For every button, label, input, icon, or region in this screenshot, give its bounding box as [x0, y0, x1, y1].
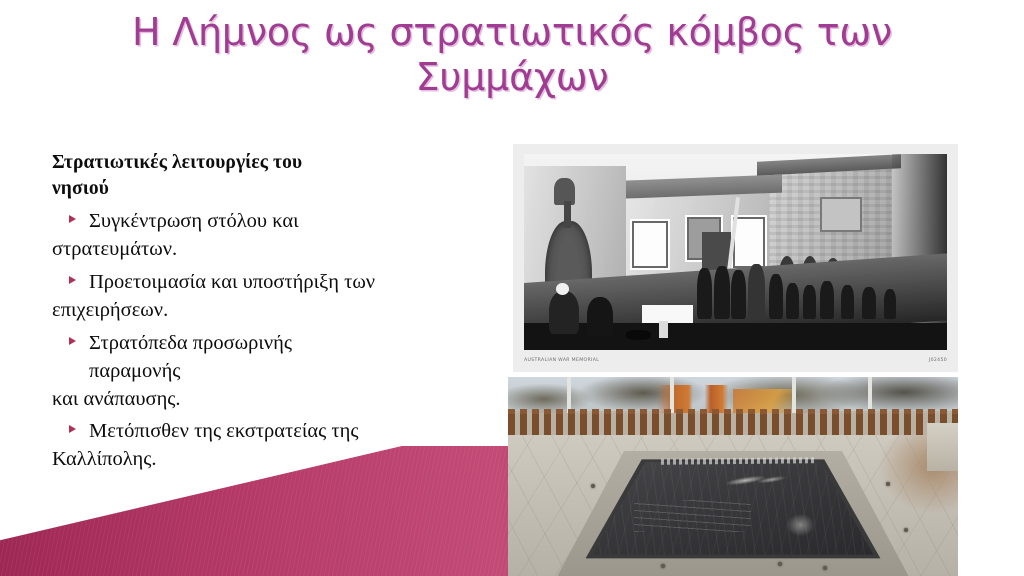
- photo-soldier-figure: [697, 268, 711, 319]
- list-item: Συγκέντρωση στόλου και: [52, 208, 482, 236]
- photo-figure: [820, 281, 834, 318]
- list-item-text: Προετοιμασία και υποστήριξη των: [52, 269, 482, 297]
- historic-street-photo: AUSTRALIAN WAR MEMORIAL J02450: [513, 144, 958, 372]
- plaque-relief-emblem: [769, 512, 832, 538]
- photo-headscarf: [556, 283, 569, 295]
- photo-balcony: [820, 197, 862, 232]
- photo-soldier-figure: [714, 266, 729, 319]
- list-item-text: Στρατόπεδα προσωρινής: [52, 330, 482, 358]
- photo-figure: [884, 289, 897, 318]
- photo-dog: [626, 330, 651, 340]
- list-item: Προετοιμασία και υποστήριξη των: [52, 269, 482, 297]
- list-item-runover: στρατευμάτων.: [52, 236, 482, 264]
- photo-credit-source: AUSTRALIAN WAR MEMORIAL: [524, 358, 599, 363]
- photo-figure: [862, 287, 876, 318]
- memorial-plaque-photo: [508, 377, 958, 576]
- historic-photo-image: [524, 154, 947, 350]
- plaque-relief-texture: [634, 500, 751, 532]
- body-heading: Στρατιωτικές λειτουργίες του νησιού: [52, 150, 482, 202]
- list-item-runover: Καλλίπολης.: [52, 446, 482, 474]
- photo-seated-figure: [549, 291, 579, 334]
- photo-civilian-figure: [748, 264, 765, 319]
- photo-lamp-arm: [564, 201, 570, 228]
- photo-table: [642, 305, 693, 323]
- photo-figure: [841, 285, 854, 318]
- triangle-bullet-icon: [69, 337, 76, 345]
- list-item-runover: και ανάπαυσης.: [52, 386, 482, 414]
- list-item: Μετόπισθεν της εκστρατείας της: [52, 418, 482, 446]
- list-item-text: Μετόπισθεν της εκστρατείας της: [52, 418, 482, 446]
- photo-table-leg: [659, 321, 667, 339]
- photo-soldier-figure: [731, 270, 745, 319]
- photo-window: [630, 219, 670, 270]
- photo-child-figure: [803, 285, 816, 318]
- triangle-bullet-icon: [69, 425, 76, 433]
- body-text-column: Στρατιωτικές λειτουργίες του νησιού Συγκ…: [52, 150, 482, 474]
- triangle-bullet-icon: [69, 276, 76, 284]
- list-item-runover: επιχειρήσεων.: [52, 297, 482, 325]
- slide-title: Η Λήμνος ως στρατιωτικός κόμβος των Συμμ…: [48, 10, 976, 100]
- photo-credit-bar: AUSTRALIAN WAR MEMORIAL J02450: [524, 353, 947, 368]
- triangle-bullet-icon: [69, 215, 76, 223]
- plaque-photo-wall: [927, 423, 959, 471]
- list-item-text: Συγκέντρωση στόλου και: [52, 208, 482, 236]
- photo-credit-id: J02450: [929, 358, 947, 363]
- slide-canvas: Η Λήμνος ως στρατιωτικός κόμβος των Συμμ…: [0, 0, 1024, 576]
- list-item: Στρατόπεδα προσωρινής: [52, 330, 482, 358]
- list-item-continuation: παραμονής: [52, 358, 482, 386]
- photo-child-figure: [786, 283, 799, 318]
- photo-soldier-figure: [769, 274, 783, 319]
- photo-seated-figure: [587, 297, 612, 336]
